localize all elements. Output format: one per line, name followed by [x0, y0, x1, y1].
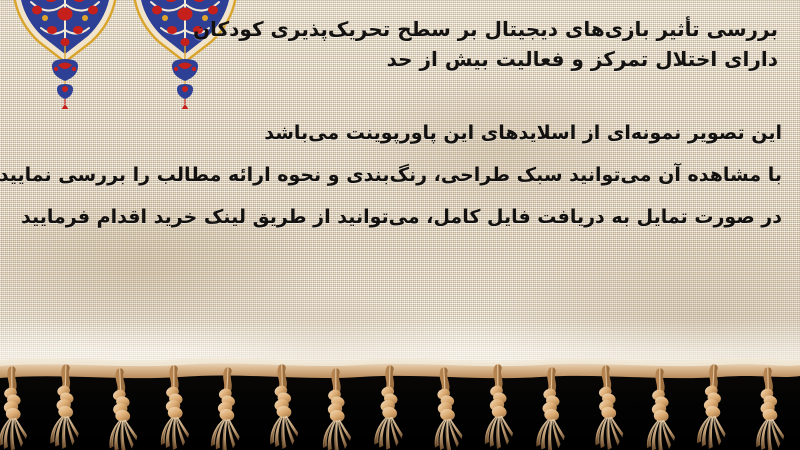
slide-canvas: بررسی تأثیر بازی‌های دیجیتال بر سطح تحری… [0, 0, 800, 450]
body-line-3: در صورت تمایل به دریافت فایل کامل، می‌تو… [18, 196, 782, 238]
black-backdrop-band [0, 372, 800, 450]
slide-title: بررسی تأثیر بازی‌های دیجیتال بر سطح تحری… [22, 14, 778, 74]
slide-body: این تصویر نمونه‌ای از اسلایدهای این پاور… [18, 112, 782, 238]
body-line-2: با مشاهده آن می‌توانید سبک طراحی، رنگ‌بن… [18, 154, 782, 196]
body-line-1: این تصویر نمونه‌ای از اسلایدهای این پاور… [18, 112, 782, 154]
title-line-1: بررسی تأثیر بازی‌های دیجیتال بر سطح تحری… [22, 14, 778, 44]
slide-text-layer: بررسی تأثیر بازی‌های دیجیتال بر سطح تحری… [0, 0, 800, 372]
title-line-2: دارای اختلال تمرکز و فعالیت بیش از حد [22, 44, 778, 74]
